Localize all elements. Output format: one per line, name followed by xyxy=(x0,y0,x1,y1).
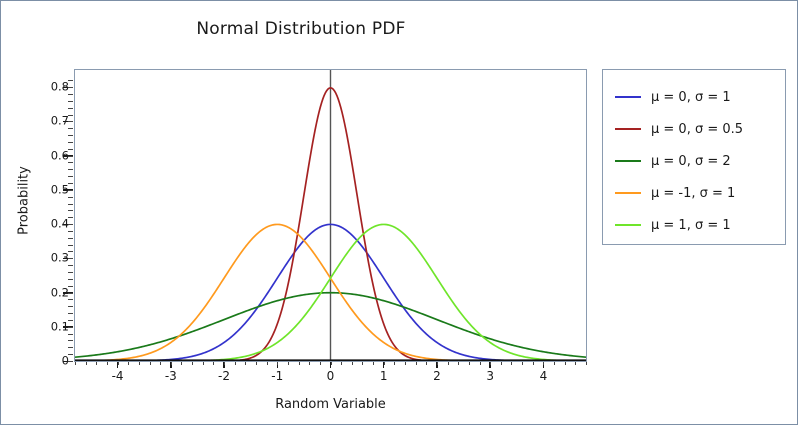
x-minor-tick xyxy=(192,362,193,365)
y-minor-tick xyxy=(68,238,73,239)
x-minor-tick xyxy=(384,362,385,365)
chart-legend: μ = 0, σ = 1μ = 0, σ = 0.5μ = 0, σ = 2μ … xyxy=(602,69,786,245)
y-minor-tick xyxy=(68,347,73,348)
x-minor-tick xyxy=(320,362,321,365)
y-minor-tick xyxy=(68,149,73,150)
y-minor-tick xyxy=(68,121,73,122)
x-minor-tick xyxy=(394,362,395,365)
x-tick-label: -2 xyxy=(218,369,230,383)
x-tick-label: -1 xyxy=(271,369,283,383)
x-minor-tick xyxy=(213,362,214,365)
x-minor-tick xyxy=(575,362,576,365)
x-minor-tick xyxy=(522,362,523,365)
y-minor-tick xyxy=(68,327,73,328)
x-minor-tick xyxy=(480,362,481,365)
y-minor-tick xyxy=(68,334,73,335)
x-minor-tick xyxy=(469,362,470,365)
y-minor-tick xyxy=(68,354,73,355)
y-minor-tick xyxy=(68,210,73,211)
x-minor-tick xyxy=(181,362,182,365)
x-minor-tick xyxy=(86,362,87,365)
legend-color-swatch xyxy=(615,160,641,162)
legend-item[interactable]: μ = 0, σ = 1 xyxy=(615,88,731,106)
y-minor-tick xyxy=(68,340,73,341)
x-minor-tick xyxy=(107,362,108,365)
x-minor-tick xyxy=(118,362,119,365)
x-minor-tick xyxy=(352,362,353,365)
x-minor-tick xyxy=(245,362,246,365)
legend-item[interactable]: μ = -1, σ = 1 xyxy=(615,184,735,202)
y-minor-tick xyxy=(68,272,73,273)
x-minor-tick xyxy=(171,362,172,365)
x-tick-label: 4 xyxy=(540,369,548,383)
legend-label: μ = -1, σ = 1 xyxy=(651,186,735,201)
x-minor-tick xyxy=(341,362,342,365)
y-minor-tick xyxy=(68,258,73,259)
x-minor-tick xyxy=(458,362,459,365)
x-minor-tick xyxy=(139,362,140,365)
x-minor-tick xyxy=(533,362,534,365)
y-minor-tick xyxy=(68,245,73,246)
legend-color-swatch xyxy=(615,224,641,226)
y-minor-tick xyxy=(68,176,73,177)
x-tick-label: 2 xyxy=(433,369,441,383)
x-minor-tick xyxy=(490,362,491,365)
x-minor-tick xyxy=(224,362,225,365)
x-minor-tick xyxy=(448,362,449,365)
y-minor-tick xyxy=(68,306,73,307)
x-minor-tick xyxy=(565,362,566,365)
y-minor-tick xyxy=(68,80,73,81)
y-tick-label: 0 xyxy=(13,355,69,367)
x-minor-tick xyxy=(586,362,587,365)
legend-item[interactable]: μ = 0, σ = 0.5 xyxy=(615,120,743,138)
x-minor-tick xyxy=(362,362,363,365)
legend-label: μ = 0, σ = 0.5 xyxy=(651,122,743,137)
y-minor-tick xyxy=(68,183,73,184)
y-minor-tick xyxy=(68,115,73,116)
y-tick-label: 0.7 xyxy=(13,116,69,128)
y-minor-tick xyxy=(68,108,73,109)
y-tick-label: 0.1 xyxy=(13,321,69,333)
x-minor-tick xyxy=(267,362,268,365)
chart-figure: Normal Distribution PDF 00.10.20.30.40.5… xyxy=(0,0,798,425)
y-tick-label: 0.8 xyxy=(13,81,69,93)
y-axis-tick-labels: 00.10.20.30.40.50.60.70.8 xyxy=(1,1,69,428)
x-minor-tick xyxy=(150,362,151,365)
x-tick-label: -3 xyxy=(165,369,177,383)
y-minor-tick xyxy=(68,169,73,170)
legend-color-swatch xyxy=(615,128,641,130)
y-minor-tick xyxy=(68,204,73,205)
y-minor-tick xyxy=(68,224,73,225)
y-minor-tick xyxy=(68,128,73,129)
y-minor-tick xyxy=(68,197,73,198)
y-minor-tick xyxy=(68,231,73,232)
legend-item[interactable]: μ = 1, σ = 1 xyxy=(615,216,731,234)
legend-label: μ = 0, σ = 2 xyxy=(651,154,731,169)
y-minor-tick xyxy=(68,313,73,314)
y-minor-tick xyxy=(68,156,73,157)
x-minor-tick xyxy=(405,362,406,365)
y-minor-tick xyxy=(68,142,73,143)
x-minor-tick xyxy=(160,362,161,365)
x-axis-label: Random Variable xyxy=(74,397,587,412)
y-axis-label: Probability xyxy=(17,131,32,271)
x-minor-tick xyxy=(277,362,278,365)
x-tick-label: 3 xyxy=(486,369,494,383)
y-minor-tick xyxy=(68,251,73,252)
x-minor-tick xyxy=(373,362,374,365)
x-minor-tick xyxy=(96,362,97,365)
x-minor-tick xyxy=(128,362,129,365)
y-minor-tick xyxy=(68,87,73,88)
x-tick-label: 0 xyxy=(327,369,335,383)
x-minor-tick xyxy=(511,362,512,365)
y-minor-tick xyxy=(68,361,73,362)
y-minor-tick xyxy=(68,299,73,300)
legend-label: μ = 0, σ = 1 xyxy=(651,90,731,105)
x-minor-tick xyxy=(256,362,257,365)
y-minor-tick xyxy=(68,320,73,321)
legend-item[interactable]: μ = 0, σ = 2 xyxy=(615,152,731,170)
y-minor-tick xyxy=(68,279,73,280)
chart-title: Normal Distribution PDF xyxy=(1,19,601,39)
x-minor-tick xyxy=(309,362,310,365)
legend-color-swatch xyxy=(615,192,641,194)
plot-curves xyxy=(75,70,586,361)
y-minor-tick xyxy=(68,162,73,163)
y-minor-tick xyxy=(68,135,73,136)
plot-area xyxy=(74,69,587,362)
y-minor-tick xyxy=(68,293,73,294)
x-minor-tick xyxy=(288,362,289,365)
y-minor-tick xyxy=(68,265,73,266)
x-minor-tick xyxy=(235,362,236,365)
y-minor-tick xyxy=(68,101,73,102)
x-minor-tick xyxy=(543,362,544,365)
y-minor-tick xyxy=(68,286,73,287)
x-minor-tick xyxy=(75,362,76,365)
x-minor-tick xyxy=(299,362,300,365)
x-minor-tick xyxy=(437,362,438,365)
x-minor-tick xyxy=(426,362,427,365)
x-minor-tick xyxy=(203,362,204,365)
x-tick-label: 1 xyxy=(380,369,388,383)
legend-color-swatch xyxy=(615,96,641,98)
x-minor-tick xyxy=(501,362,502,365)
legend-label: μ = 1, σ = 1 xyxy=(651,218,731,233)
y-minor-tick xyxy=(68,217,73,218)
x-minor-tick xyxy=(416,362,417,365)
y-tick-label: 0.2 xyxy=(13,287,69,299)
x-minor-tick xyxy=(554,362,555,365)
y-minor-tick xyxy=(68,94,73,95)
x-tick-label: -4 xyxy=(112,369,124,383)
y-minor-tick xyxy=(68,190,73,191)
x-minor-tick xyxy=(331,362,332,365)
